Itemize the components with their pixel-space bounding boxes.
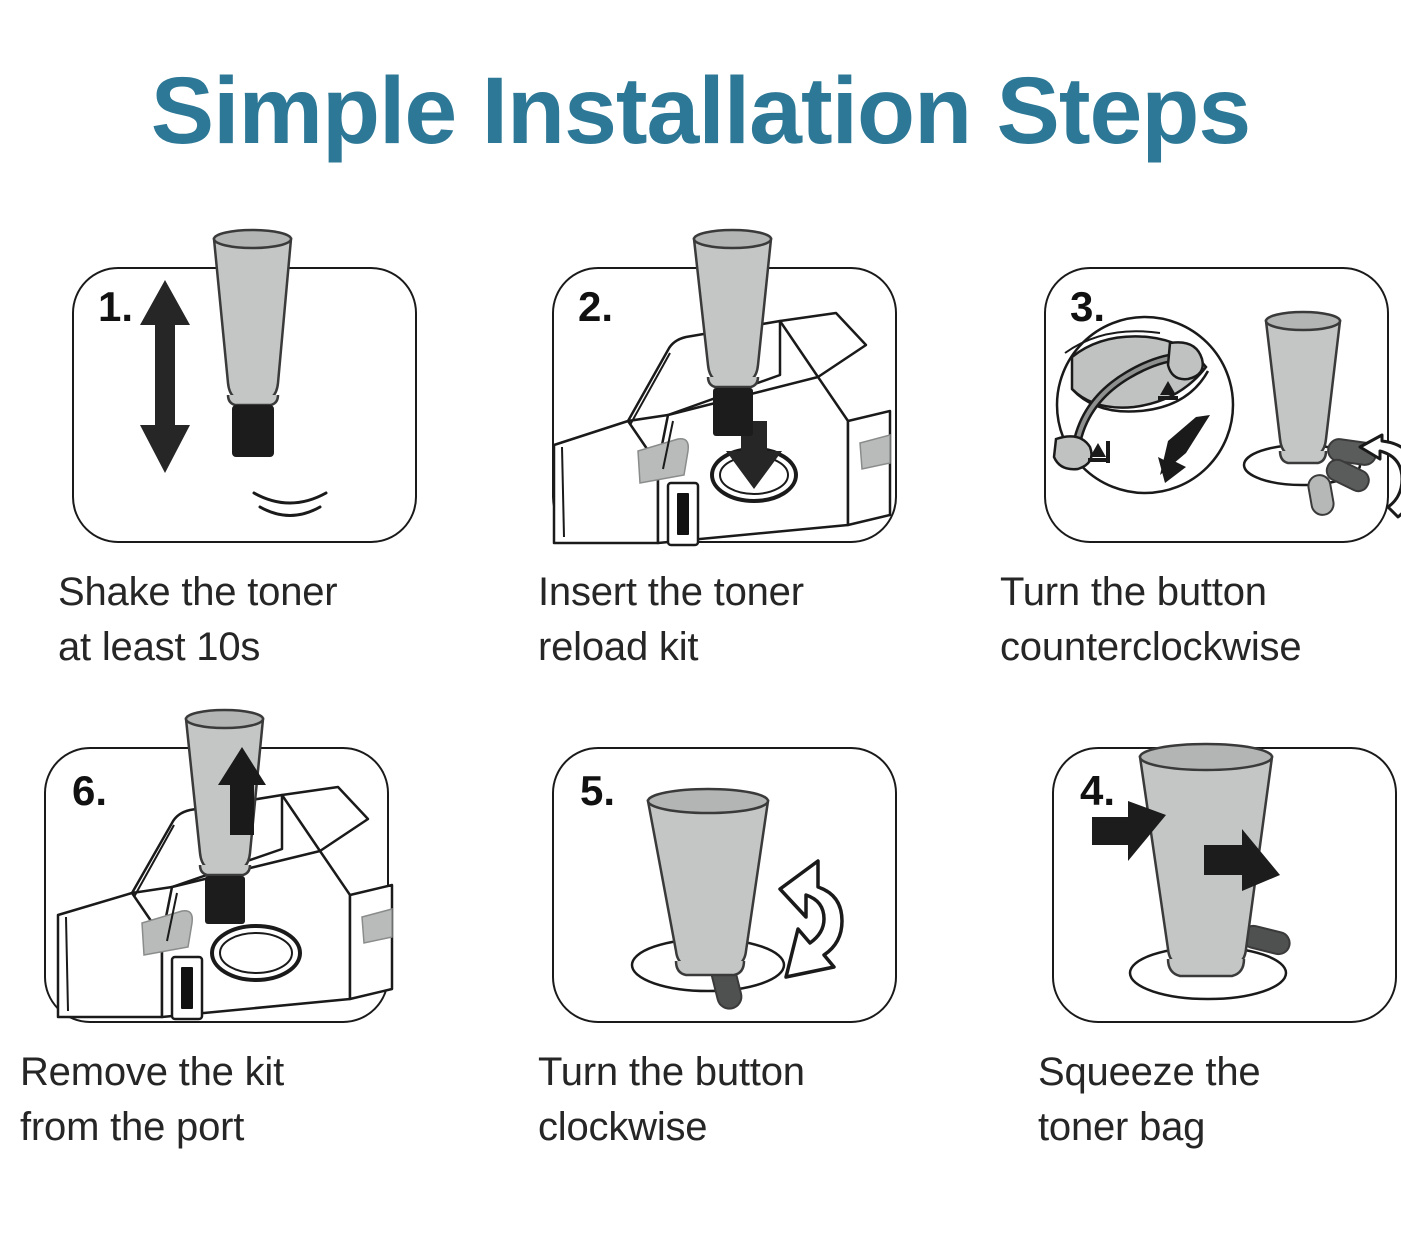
toner-bottle-cap — [205, 876, 245, 924]
step-card-6: 6. Remove the kit from the port — [10, 705, 440, 1205]
toner-bottle-mouth — [186, 710, 263, 728]
step-card-4: 4. Squeeze the toner bag — [1018, 705, 1401, 1205]
toner-bottle-cap — [233, 406, 273, 456]
toner-bottle-mouth — [1266, 312, 1340, 330]
step-number-2: 2. — [578, 283, 613, 331]
step-number-3: 3. — [1070, 283, 1105, 331]
toner-bottle-collar — [676, 961, 744, 975]
toner-bottle-body — [1266, 321, 1340, 453]
step-illustration-3 — [1010, 225, 1401, 575]
step-illustration-5 — [518, 705, 948, 1055]
motion-lines-icon — [254, 493, 326, 516]
toner-bottle-mouth — [648, 789, 768, 813]
step-caption-4: Squeeze the toner bag — [1038, 1045, 1401, 1155]
step-illustration-1 — [38, 225, 468, 575]
step-illustration-6 — [10, 705, 440, 1055]
toner-bottle-body — [648, 801, 768, 965]
step-card-5: 5. Turn the button clockwise — [518, 705, 948, 1205]
step-card-1: 1. Shake the toner at least 10s — [38, 225, 468, 705]
step-caption-2: Insert the toner reload kit — [538, 565, 938, 675]
toner-bottle-mouth — [694, 230, 771, 248]
step-number-4: 4. — [1080, 767, 1115, 815]
curved-outline-arrow-cw-icon — [780, 861, 842, 977]
step-number-1: 1. — [98, 283, 133, 331]
toner-bottle-collar — [1280, 451, 1326, 463]
toner-bottle-mouth — [214, 230, 291, 248]
steps-grid: 1. Shake the toner at least 10s — [0, 225, 1401, 1235]
toner-bottle-collar — [228, 395, 278, 405]
toner-bottle-collar — [200, 865, 250, 875]
printer-status-slot-indicator — [181, 967, 193, 1009]
toner-bottle-cap — [713, 388, 753, 436]
step-illustration-2 — [518, 225, 948, 575]
double-arrow-vertical-icon — [140, 280, 190, 473]
page-title: Simple Installation Steps — [0, 62, 1401, 162]
step-illustration-4 — [1018, 705, 1401, 1055]
step-card-2: 2. Insert the toner reload kit — [518, 225, 948, 705]
printer-port-oval-inner — [220, 933, 292, 973]
toner-bottle-body — [214, 239, 291, 397]
step-caption-5: Turn the button clockwise — [538, 1045, 948, 1155]
step-number-6: 6. — [72, 767, 107, 815]
toner-bottle-mouth — [1140, 744, 1272, 770]
step-card-3: 3. Turn the button counterclockwise — [1010, 225, 1401, 705]
step-caption-3: Turn the button counterclockwise — [1000, 565, 1401, 675]
printer-status-slot-indicator — [677, 493, 689, 535]
detail-circle-lock-icon — [1054, 317, 1233, 493]
step-caption-6: Remove the kit from the port — [20, 1045, 440, 1155]
toner-bottle-collar — [1168, 959, 1244, 976]
step-caption-1: Shake the toner at least 10s — [58, 565, 458, 675]
toner-bottle-collar — [708, 377, 758, 387]
step-number-5: 5. — [580, 767, 615, 815]
